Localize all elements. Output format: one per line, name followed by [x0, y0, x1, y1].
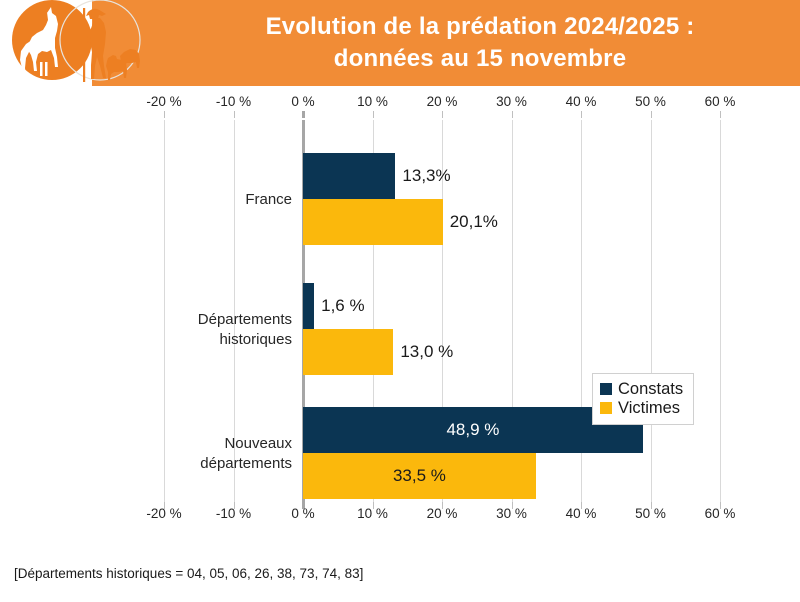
x-tick-label: 60 % [705, 506, 736, 521]
bar-value-label: 13,0 % [400, 343, 453, 360]
x-tick-label: 0 % [291, 94, 314, 109]
x-tick-mark [581, 111, 582, 118]
x-axis-top: -20 %-10 %0 %10 %20 %30 %40 %50 %60 % [0, 94, 800, 118]
x-tick-mark [373, 111, 374, 118]
bar-victimes-1[interactable] [303, 329, 393, 375]
x-axis-bottom: -20 %-10 %0 %10 %20 %30 %40 %50 %60 % [0, 506, 800, 530]
legend-item-constats[interactable]: Constats [600, 381, 683, 398]
chart-bars: 13,3%20,1%1,6 %13,0 %48,9 %33,5 % [0, 120, 800, 502]
title-line-1: Evolution de la prédation 2024/2025 : [266, 11, 695, 43]
x-tick-mark [651, 111, 652, 118]
chart-plot-area: -20 %-10 %0 %10 %20 %30 %40 %50 %60 % Fr… [0, 86, 800, 556]
legend-label-victimes: Victimes [618, 400, 680, 417]
x-tick-label: -20 % [146, 506, 181, 521]
bar-value-label: 1,6 % [321, 297, 364, 314]
legend-swatch-victimes-icon [600, 402, 612, 414]
x-tick-label: 20 % [427, 94, 458, 109]
bar-victimes-0[interactable] [303, 199, 443, 245]
x-tick-label: 10 % [357, 94, 388, 109]
bar-constats-0[interactable] [303, 153, 395, 199]
x-tick-label: 40 % [566, 94, 597, 109]
x-tick-mark [512, 111, 513, 118]
x-tick-label: 50 % [635, 94, 666, 109]
bar-value-label: 33,5 % [393, 467, 446, 484]
x-tick-label: 30 % [496, 94, 527, 109]
x-tick-label: 50 % [635, 506, 666, 521]
legend-swatch-constats-icon [600, 383, 612, 395]
x-tick-label: 10 % [357, 506, 388, 521]
legend-item-victimes[interactable]: Victimes [600, 400, 683, 417]
x-tick-label: 40 % [566, 506, 597, 521]
footnote-text: [Départements historiques = 04, 05, 06, … [14, 566, 363, 581]
x-tick-label: -10 % [216, 94, 251, 109]
bar-value-label: 48,9 % [446, 421, 499, 438]
chart-legend: Constats Victimes [592, 373, 694, 425]
x-tick-label: 60 % [705, 94, 736, 109]
page-title: Evolution de la prédation 2024/2025 : do… [160, 6, 800, 80]
x-tick-mark [720, 111, 721, 118]
wolf-and-shepherd-logo [0, 0, 150, 86]
x-tick-label: 20 % [427, 506, 458, 521]
bar-value-label: 13,3% [402, 167, 450, 184]
x-tick-mark [302, 111, 305, 118]
bar-constats-1[interactable] [303, 283, 314, 329]
x-tick-label: -10 % [216, 506, 251, 521]
x-tick-label: -20 % [146, 94, 181, 109]
x-tick-mark [234, 111, 235, 118]
title-line-2: données au 15 novembre [334, 43, 627, 75]
bar-value-label: 20,1% [450, 213, 498, 230]
x-tick-label: 0 % [291, 506, 314, 521]
chart-page: Evolution de la prédation 2024/2025 : do… [0, 0, 800, 602]
x-tick-label: 30 % [496, 506, 527, 521]
header-band: Evolution de la prédation 2024/2025 : do… [0, 0, 800, 86]
x-tick-mark [164, 111, 165, 118]
legend-label-constats: Constats [618, 381, 683, 398]
x-tick-mark [442, 111, 443, 118]
